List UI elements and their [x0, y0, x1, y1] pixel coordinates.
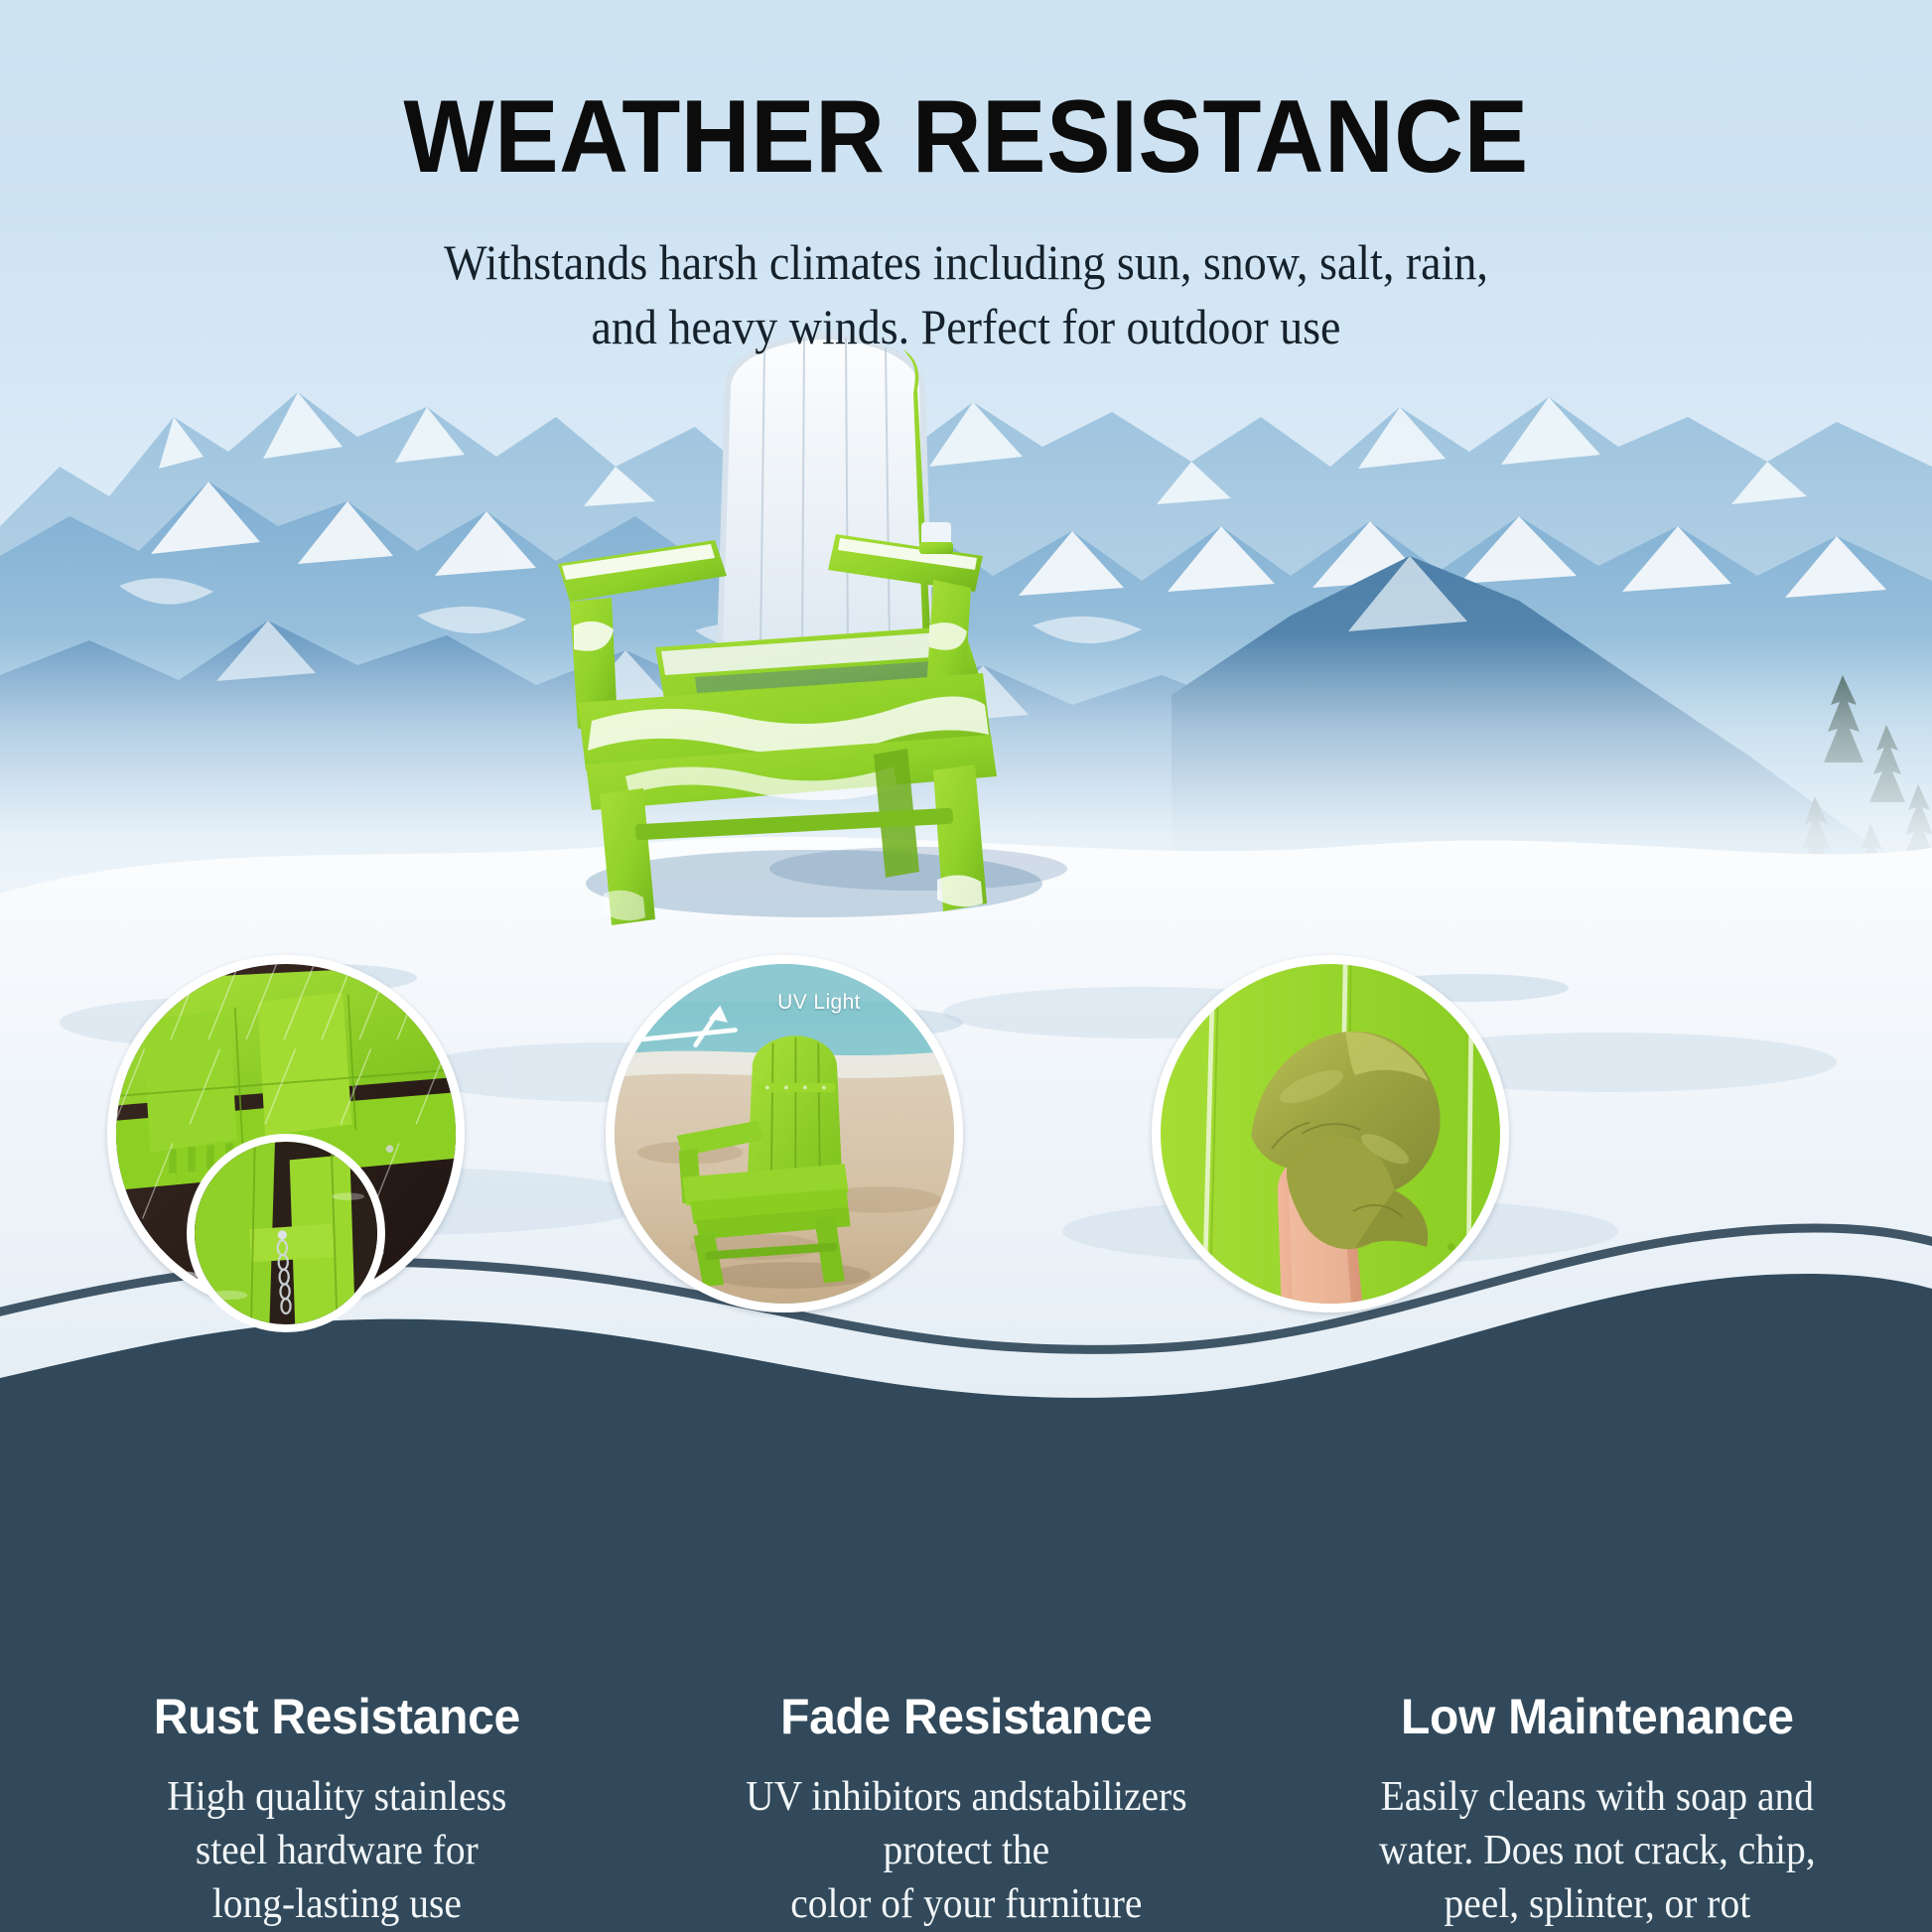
- subtitle-line-1: Withstands harsh climates including sun,…: [77, 230, 1855, 295]
- infographic-canvas: WEATHER RESISTANCE Withstands harsh clim…: [0, 0, 1932, 1932]
- feature-heading-low-maintenance: Low Maintenance: [1329, 1688, 1866, 1745]
- feature-row: Rust Resistance High quality stainless s…: [0, 1688, 1932, 1931]
- feature-body-line-1: UV inhibitors andstabilizers: [701, 1771, 1232, 1825]
- badge-low-maintenance-image: [1161, 964, 1500, 1304]
- feature-body-line-1: High quality stainless: [76, 1771, 598, 1825]
- feature-heading-fade-resistance: Fade Resistance: [695, 1688, 1237, 1745]
- page-subtitle: Withstands harsh climates including sun,…: [77, 189, 1855, 359]
- feature-body-line-1: Easily cleans with soap and: [1334, 1771, 1861, 1825]
- uv-light-label: UV Light: [777, 991, 861, 1015]
- feature-body-line-2: protect the: [701, 1825, 1232, 1878]
- feature-body-line-2: steel hardware for: [76, 1825, 598, 1878]
- feature-body-line-3: long-lasting use: [76, 1878, 598, 1932]
- badge-low-maintenance[interactable]: [1152, 955, 1509, 1312]
- uv-annotation: UV Light: [615, 964, 954, 1304]
- feature-body-low-maintenance: Easily cleans with soap and water. Does …: [1334, 1771, 1861, 1931]
- feature-body-line-3: peel, splinter, or rot: [1334, 1878, 1861, 1932]
- subtitle-line-2: and heavy winds. Perfect for outdoor use: [77, 295, 1855, 359]
- feature-column-rust-resistance: Rust Resistance High quality stainless s…: [0, 1688, 644, 1931]
- page-title: WEATHER RESISTANCE: [68, 0, 1864, 189]
- badge-fade-resistance[interactable]: UV Light: [606, 955, 963, 1312]
- hero-chair-snow-covered: [467, 328, 1102, 943]
- feature-body-line-2: water. Does not crack, chip,: [1334, 1825, 1861, 1878]
- header-block: WEATHER RESISTANCE Withstands harsh clim…: [0, 0, 1932, 359]
- badge-rust-hardware-inset-image: [195, 1142, 377, 1324]
- feature-column-low-maintenance: Low Maintenance Easily cleans with soap …: [1288, 1688, 1932, 1931]
- feature-body-rust-resistance: High quality stainless steel hardware fo…: [76, 1771, 598, 1931]
- feature-body-line-3: color of your furniture: [701, 1878, 1232, 1932]
- feature-heading-rust-resistance: Rust Resistance: [70, 1688, 603, 1745]
- feature-column-fade-resistance: Fade Resistance UV inhibitors andstabili…: [644, 1688, 1289, 1931]
- feature-body-fade-resistance: UV inhibitors andstabilizers protect the…: [701, 1771, 1232, 1931]
- badge-rust-hardware-inset[interactable]: [187, 1134, 385, 1332]
